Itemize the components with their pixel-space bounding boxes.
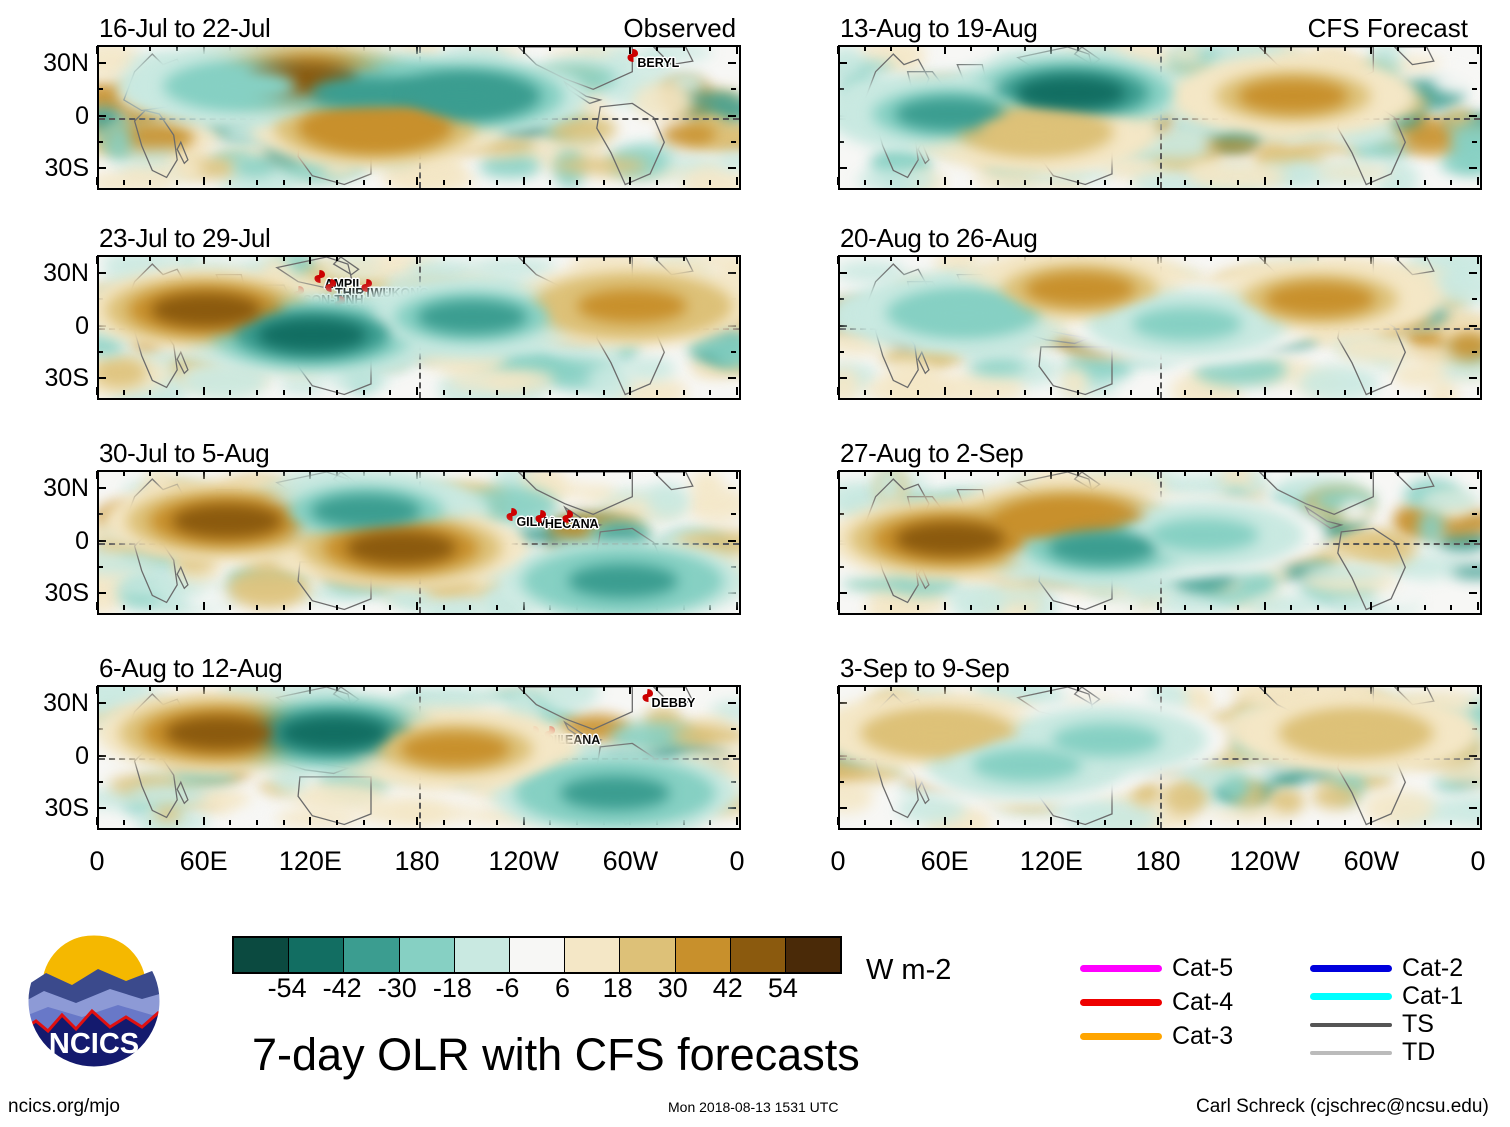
x-axis-tick [1024,390,1026,395]
x-axis-tick [123,471,125,476]
legend-label: Cat-5 [1172,956,1233,981]
x-axis-tick [837,686,839,694]
x-axis-tick [1210,390,1212,395]
y-axis-tick [98,167,106,169]
colorbar-swatch [620,938,675,972]
x-axis-tick [970,686,972,691]
x-axis-label: 0 [790,848,886,875]
x-axis-tick [890,390,892,395]
x-axis-tick [1424,390,1426,395]
x-axis-tick [1130,46,1132,51]
x-axis-tick [1370,817,1372,825]
x-axis-tick [1397,256,1399,261]
x-axis-tick [656,180,658,185]
y-axis-label: 30N [5,51,89,76]
x-axis-tick [1477,256,1479,264]
y-axis-tick [98,351,103,353]
x-axis-tick [1397,686,1399,691]
x-axis-tick [1157,177,1159,185]
x-axis-tick [203,602,205,610]
x-axis-tick [864,390,866,395]
x-axis-tick [1397,820,1399,825]
colorbar-swatch [455,938,510,972]
y-axis-tick [1469,755,1477,757]
x-axis-tick [363,605,365,610]
x-axis-tick [1450,180,1452,185]
x-axis-label: 180 [369,848,465,875]
legend-item-ts: TS [1310,1012,1434,1037]
x-axis-tick [1450,46,1452,51]
x-axis-tick [1157,686,1159,694]
x-axis-tick [1370,471,1372,479]
ncics-logo: NCICS [18,935,170,1068]
y-axis-tick [1472,298,1477,300]
x-axis-tick [1077,820,1079,825]
y-axis-tick [839,781,844,783]
x-axis-tick [96,817,98,825]
x-axis-tick [837,387,839,395]
x-axis-tick [736,817,738,825]
x-axis-tick [890,820,892,825]
x-axis-tick [123,180,125,185]
x-axis-tick [149,471,151,476]
x-axis-tick [1264,817,1266,825]
x-axis-tick [1130,471,1132,476]
x-axis-tick [416,817,418,825]
x-axis-tick [1024,46,1026,51]
x-axis-tick [389,820,391,825]
x-axis-tick [656,256,658,261]
x-axis-tick [496,180,498,185]
x-axis-tick [176,820,178,825]
x-axis-tick [389,686,391,691]
x-axis-tick [1077,390,1079,395]
legend-label: Cat-2 [1402,956,1463,981]
x-axis-tick [997,390,999,395]
map-fcst-3 [838,470,1482,615]
x-axis-tick [1290,471,1292,476]
x-axis-tick [864,180,866,185]
x-axis-tick [837,46,839,54]
x-axis-tick [389,390,391,395]
x-axis-tick [603,180,605,185]
x-axis-tick [1050,177,1052,185]
x-axis-tick [1344,46,1346,51]
x-axis-tick [203,387,205,395]
x-axis-tick [944,471,946,479]
x-axis-tick [1184,256,1186,261]
legend-item-cat-1: Cat-1 [1310,984,1463,1009]
x-axis-tick [309,256,311,264]
x-axis-tick [96,602,98,610]
x-axis-tick [176,686,178,691]
x-axis-tick [363,686,365,691]
x-axis-tick [736,256,738,264]
x-axis-tick [1210,180,1212,185]
x-axis-tick [1344,820,1346,825]
legend-item-td: TD [1310,1040,1435,1065]
x-axis-tick [1237,686,1239,691]
x-axis-tick [203,817,205,825]
legend-label: Cat-4 [1172,990,1233,1015]
x-axis-tick [1130,820,1132,825]
author-footer: Carl Schreck (cjschrec@ncsu.edu) [1196,1097,1489,1116]
timestamp-footer: Mon 2018-08-13 1531 UTC [668,1100,838,1114]
y-axis-tick [839,487,847,489]
x-axis-tick [1317,180,1319,185]
x-axis-tick [683,686,685,691]
x-axis-tick [970,46,972,51]
x-axis-tick [1370,46,1372,54]
x-axis-tick [709,820,711,825]
x-axis-tick [890,180,892,185]
y-axis-tick [98,513,103,515]
x-axis-tick [1210,686,1212,691]
colorbar-swatch [289,938,344,972]
x-axis-tick [603,46,605,51]
y-axis-tick [98,115,106,117]
legend-color-swatch [1310,965,1392,972]
x-axis-tick [970,390,972,395]
x-axis-tick [1184,390,1186,395]
x-axis-tick [1104,46,1106,51]
x-axis-tick [944,256,946,264]
column-header-left: Observed [623,15,736,41]
map-obs-3: JONGDARISIXTEENSHANSHANGILMAHECTORANA [97,470,741,615]
x-axis-tick [709,390,711,395]
x-axis-tick [96,387,98,395]
x-axis-tick [1317,471,1319,476]
legend-color-swatch [1310,993,1392,1000]
panel-date-range: 20-Aug to 26-Aug [840,225,1037,251]
y-axis-tick [98,566,103,568]
x-axis-tick [1370,177,1372,185]
x-axis-tick [576,686,578,691]
x-axis-tick [549,390,551,395]
x-axis-tick [603,256,605,261]
y-axis-tick [728,702,736,704]
x-axis-tick [123,686,125,691]
x-axis-tick [123,46,125,51]
y-axis-tick [728,540,736,542]
x-axis-tick [997,686,999,691]
x-axis-tick [363,256,365,261]
x-axis-tick [1397,605,1399,610]
x-axis-tick [1290,686,1292,691]
x-axis-tick [1050,602,1052,610]
x-axis-tick [469,820,471,825]
x-axis-tick [683,46,685,51]
x-axis-tick [1264,387,1266,395]
y-axis-tick [1469,115,1477,117]
colorbar-swatch [786,938,840,972]
x-axis-label: 180 [1110,848,1206,875]
x-axis-tick [683,390,685,395]
x-axis-tick [629,471,631,479]
x-axis-tick [864,605,866,610]
y-axis-tick [839,702,847,704]
x-axis-tick [736,177,738,185]
y-axis-tick [728,755,736,757]
x-axis-tick [443,605,445,610]
x-axis-tick [1077,471,1079,476]
x-axis-tick [1104,686,1106,691]
y-axis-tick [728,487,736,489]
x-axis-tick [496,605,498,610]
x-axis-tick [1450,605,1452,610]
x-axis-tick [656,471,658,476]
x-axis-tick [1210,256,1212,261]
x-axis-tick [336,605,338,610]
y-axis-label: 30S [5,796,89,821]
x-axis-tick [1210,605,1212,610]
x-axis-tick [917,390,919,395]
x-axis-tick [176,256,178,261]
x-axis-tick [443,390,445,395]
x-axis-tick [256,180,258,185]
x-axis-tick [1264,177,1266,185]
x-axis-tick [576,256,578,261]
x-axis-label: 0 [49,848,145,875]
x-axis-tick [203,177,205,185]
y-axis-tick [1469,272,1477,274]
colorbar-units-label: W m-2 [866,956,951,985]
x-axis-tick [229,471,231,476]
x-axis-tick [736,387,738,395]
x-axis-tick [1077,686,1079,691]
x-axis-tick [837,817,839,825]
x-axis-tick [1344,180,1346,185]
x-axis-tick [443,686,445,691]
storm-label: DEBBY [652,697,696,710]
x-axis-label: 60W [1323,848,1419,875]
x-axis-tick [416,602,418,610]
x-axis-tick [149,605,151,610]
x-axis-tick [1104,605,1106,610]
legend-item-cat-3: Cat-3 [1080,1024,1233,1049]
x-axis-tick [1264,471,1266,479]
x-axis-tick [336,180,338,185]
x-axis-tick [1424,820,1426,825]
y-axis-tick [98,702,106,704]
x-axis-tick [389,605,391,610]
y-axis-tick [731,728,736,730]
colorbar-tick: 54 [745,975,821,1002]
y-axis-tick [98,141,103,143]
y-axis-label: 30N [5,691,89,716]
x-axis-tick [1184,180,1186,185]
x-axis-tick [1104,471,1106,476]
x-axis-tick [1317,820,1319,825]
x-axis-tick [1290,390,1292,395]
x-axis-tick [123,390,125,395]
x-axis-tick [1397,180,1399,185]
x-axis-tick [523,177,525,185]
x-axis-tick [1424,686,1426,691]
x-axis-tick [149,256,151,261]
legend-item-cat-5: Cat-5 [1080,956,1233,981]
x-axis-tick [523,387,525,395]
x-axis-tick [629,256,631,264]
x-axis-tick [603,471,605,476]
x-axis-tick [970,605,972,610]
column-header-right: CFS Forecast [1308,15,1468,41]
x-axis-tick [1050,817,1052,825]
x-axis-tick [944,46,946,54]
x-axis-tick [283,820,285,825]
x-axis-tick [709,686,711,691]
x-axis-tick [1264,602,1266,610]
y-axis-tick [839,167,847,169]
x-axis-tick [629,46,631,54]
colorbar-swatch [565,938,620,972]
x-axis-tick [336,256,338,261]
x-axis-tick [629,177,631,185]
colorbar-swatch [676,938,731,972]
x-axis-tick [283,686,285,691]
y-axis-tick [1469,487,1477,489]
x-axis-tick [1050,686,1052,694]
x-axis-tick [917,686,919,691]
y-axis-tick [98,62,106,64]
x-axis-tick [256,471,258,476]
x-axis-tick [1130,686,1132,691]
site-footer-link[interactable]: ncics.org/mjo [8,1097,120,1116]
x-axis-tick [1130,605,1132,610]
x-axis-tick [917,820,919,825]
colorbar-swatch [510,938,565,972]
y-axis-tick [839,88,844,90]
x-axis-tick [576,390,578,395]
x-axis-tick [1237,390,1239,395]
x-axis-tick [997,820,999,825]
x-axis-tick [709,180,711,185]
y-axis-tick [1472,88,1477,90]
x-axis-tick [229,390,231,395]
x-axis-tick [917,605,919,610]
legend-color-swatch [1080,999,1162,1006]
x-axis-tick [1450,686,1452,691]
x-axis-tick [123,605,125,610]
x-axis-tick [736,686,738,694]
panel-date-range: 30-Jul to 5-Aug [99,440,269,466]
x-axis-tick [336,686,338,691]
y-axis-tick [839,377,847,379]
x-axis-tick [1237,180,1239,185]
x-axis-tick [149,686,151,691]
x-axis-tick [496,390,498,395]
x-axis-label: 60E [156,848,252,875]
x-axis-tick [336,390,338,395]
x-axis-tick [416,387,418,395]
y-axis-tick [98,755,106,757]
colorbar-swatch [344,938,399,972]
map-obs-2: AMPILTHIRTEENWUKONGSON-TINHJONGDARININEG… [97,255,741,400]
x-axis-tick [1477,177,1479,185]
x-axis-tick [523,256,525,264]
x-axis-label: 0 [1430,848,1510,875]
y-axis-tick [731,351,736,353]
x-axis-tick [1237,46,1239,51]
x-axis-tick [970,471,972,476]
x-axis-tick [1157,46,1159,54]
legend-label: TD [1402,1040,1435,1065]
panel-date-range: 6-Aug to 12-Aug [99,655,282,681]
x-axis-tick [1104,390,1106,395]
x-axis-tick [1344,605,1346,610]
x-axis-tick [176,471,178,476]
x-axis-tick [709,471,711,476]
x-axis-tick [523,686,525,694]
y-axis-label: 30N [5,476,89,501]
x-axis-tick [917,471,919,476]
y-axis-label: 30S [5,581,89,606]
y-axis-tick [1469,540,1477,542]
x-axis-tick [309,602,311,610]
x-axis-tick [1077,605,1079,610]
x-axis-tick [256,820,258,825]
x-axis-tick [469,180,471,185]
x-axis-tick [736,471,738,479]
x-axis-tick [709,256,711,261]
x-axis-tick [469,256,471,261]
x-axis-tick [309,177,311,185]
x-axis-tick [256,390,258,395]
x-axis-tick [309,817,311,825]
y-axis-tick [98,540,106,542]
x-axis-tick [1397,471,1399,476]
x-axis-label: 120E [1003,848,1099,875]
x-axis-tick [229,180,231,185]
x-axis-tick [1237,605,1239,610]
svg-text:NCICS: NCICS [49,1028,139,1060]
x-axis-tick [283,390,285,395]
x-axis-tick [1157,387,1159,395]
x-axis-tick [256,605,258,610]
x-axis-tick [309,387,311,395]
legend-color-swatch [1310,1051,1392,1055]
x-axis-tick [1184,686,1186,691]
figure-title: 7-day OLR with CFS forecasts [252,1032,860,1077]
x-axis-tick [864,46,866,51]
x-axis-tick [496,256,498,261]
y-axis-tick [98,807,106,809]
x-axis-label: 60E [897,848,993,875]
legend-label: Cat-3 [1172,1024,1233,1049]
x-axis-label: 0 [689,848,785,875]
y-axis-tick [1469,702,1477,704]
x-axis-tick [1024,820,1026,825]
colorbar-swatch [731,938,786,972]
colorbar-swatch [400,938,455,972]
x-axis-tick [1130,390,1132,395]
x-axis-tick [1157,817,1159,825]
x-axis-tick [1077,46,1079,51]
y-axis-tick [1469,592,1477,594]
x-axis-tick [1210,471,1212,476]
x-axis-tick [283,256,285,261]
y-axis-tick [98,88,103,90]
panel-date-range: 3-Sep to 9-Sep [840,655,1009,681]
x-axis-tick [336,820,338,825]
x-axis-tick [1024,471,1026,476]
x-axis-tick [176,180,178,185]
y-axis-tick [728,115,736,117]
x-axis-tick [389,180,391,185]
x-axis-tick [283,471,285,476]
x-axis-tick [1264,686,1266,694]
y-axis-tick [839,566,844,568]
